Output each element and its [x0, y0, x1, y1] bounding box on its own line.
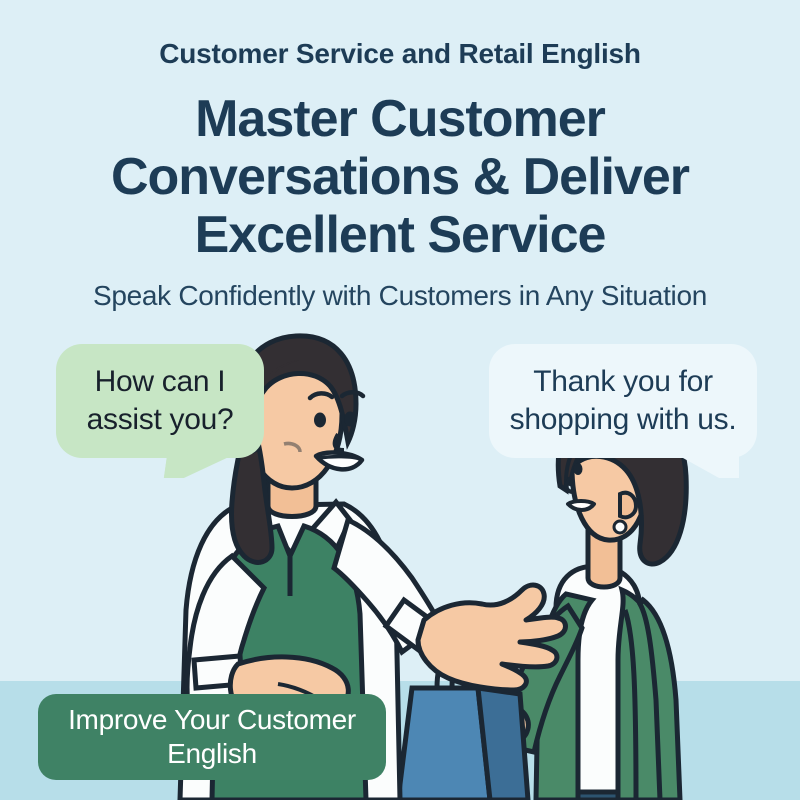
headline-line-2: Conversations & Deliver — [0, 148, 800, 206]
customer-line-1: Thank you for — [510, 363, 737, 401]
speech-bubble-clerk: How can I assist you? — [56, 344, 264, 458]
headline-line-3: Excellent Service — [0, 206, 800, 264]
clerk-line-2: assist you? — [87, 401, 234, 439]
improve-english-button[interactable]: Improve Your Customer English — [38, 694, 386, 780]
speech-bubble-customer: Thank you for shopping with us. — [489, 344, 757, 458]
headline-line-1: Master Customer — [0, 90, 800, 148]
page-title: Master Customer Conversations & Deliver … — [0, 90, 800, 264]
speech-bubble-clerk-tail — [164, 448, 248, 478]
speech-bubble-customer-tail — [665, 448, 739, 478]
speech-bubble-customer-text: Thank you for shopping with us. — [510, 363, 737, 439]
speech-bubble-clerk-text: How can I assist you? — [87, 363, 234, 439]
eyebrow-label: Customer Service and Retail English — [0, 38, 800, 70]
subtitle: Speak Confidently with Customers in Any … — [0, 280, 800, 312]
clerk-line-1: How can I — [87, 363, 234, 401]
poster-canvas: Customer Service and Retail English Mast… — [0, 0, 800, 800]
customer-line-2: shopping with us. — [510, 401, 737, 439]
